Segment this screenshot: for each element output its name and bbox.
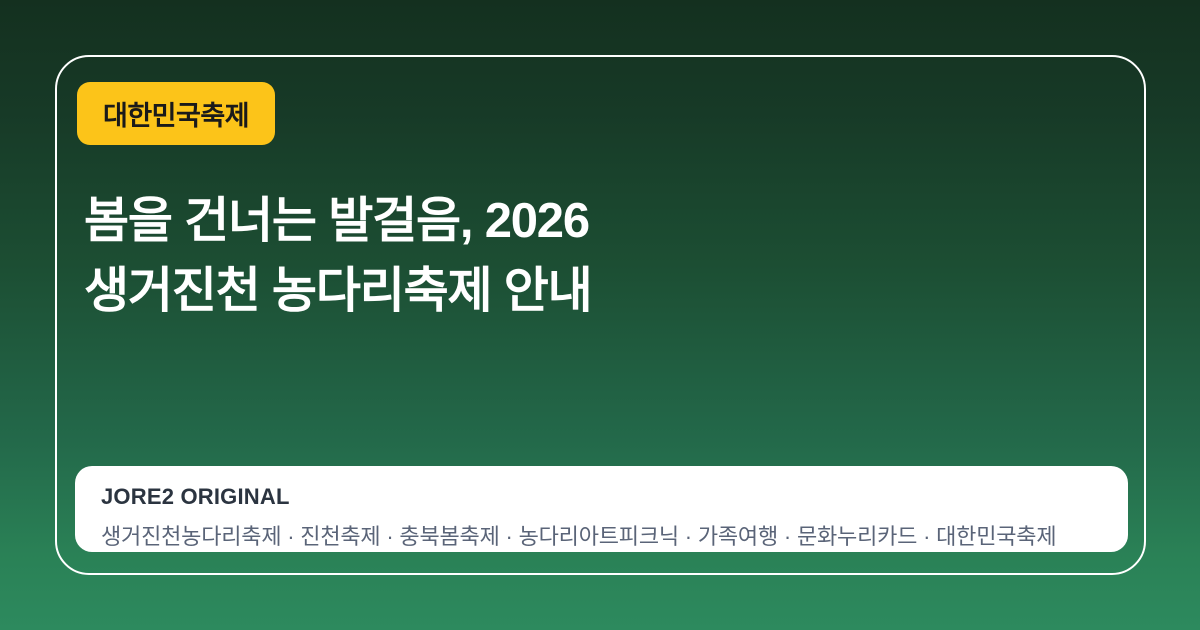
- tag-list: 생거진천농다리축제 · 진천축제 · 충북봄축제 · 농다리아트피크닉 · 가족…: [101, 519, 1200, 551]
- page-title-line-2: 생거진천 농다리축제 안내: [84, 256, 1084, 326]
- page-title-line-1: 봄을 건너는 발걸음, 2026: [84, 186, 1084, 256]
- category-badge: 대한민국축제: [77, 82, 275, 145]
- page-title: 봄을 건너는 발걸음, 2026 생거진천 농다리축제 안내: [84, 186, 1084, 326]
- category-badge-label: 대한민국축제: [103, 94, 249, 133]
- brand-label: JORE2 ORIGINAL: [101, 484, 290, 510]
- og-preview-card: 대한민국축제 봄을 건너는 발걸음, 2026 생거진천 농다리축제 안내 JO…: [0, 0, 1200, 630]
